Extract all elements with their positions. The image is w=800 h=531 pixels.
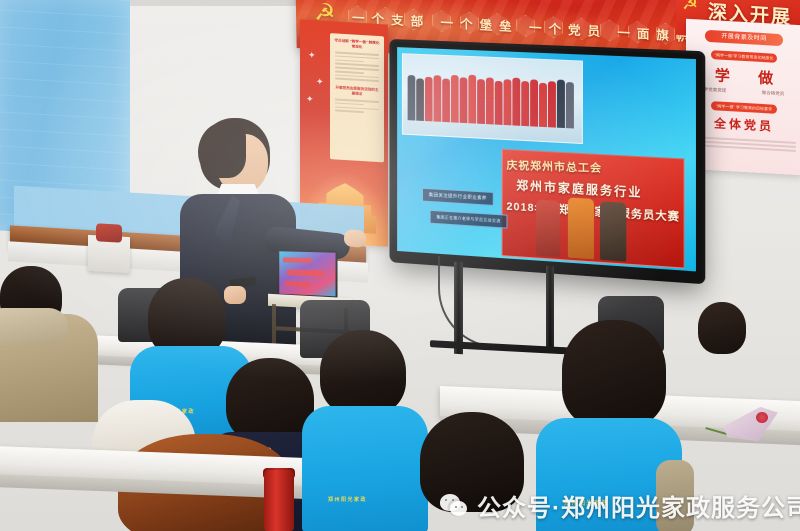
wechat-icon [440,494,468,518]
watermark: 公众号·郑州阳光家政服务公司 [440,488,800,523]
photo-scene: ☭ 一个支部 一个堡垒 一个党员 一面旗帜 ☭ 深入开展 ✦ ✦ ✦ 守正创新 … [0,0,800,531]
watermark-text: 公众号·郑州阳光家政服务公司 [477,488,800,523]
lighting-overlay [0,0,800,531]
